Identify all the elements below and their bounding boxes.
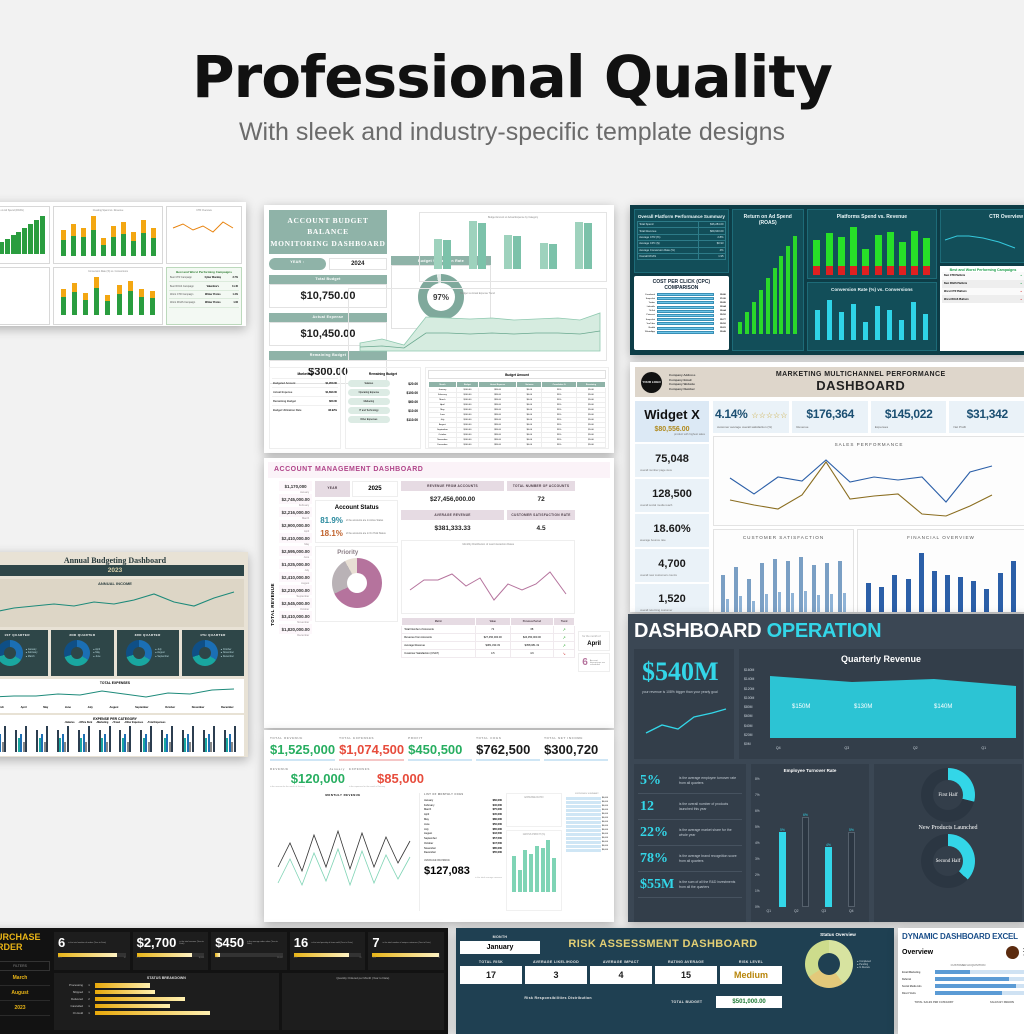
kpi-card: PROFIT $450,500 [408, 736, 472, 761]
marketing-multichannel-card[interactable]: YOUR LOGO Company AddressCompany EmailCo… [630, 362, 1024, 612]
am-title: ACCOUNT MANAGEMENT DASHBOARD [268, 462, 610, 478]
list-item: $1,170,000 January [279, 481, 312, 494]
bar-group [140, 726, 152, 752]
table-row: December $100.00$95.00 $5.0095% $5.00 [429, 443, 606, 448]
sales-line-svg [716, 450, 1000, 520]
area-chart-svg [352, 295, 604, 353]
list-item: Email Marketing [902, 970, 1024, 974]
bar [984, 589, 989, 612]
risk-assessment-card[interactable]: MONTH January RISK ASSESSMENT DASHBOARD … [456, 928, 894, 1034]
list-item: $0,000 [566, 841, 608, 844]
kpi-card: $31,342 Net Profit [949, 401, 1024, 433]
list-item: $0,000 [566, 801, 608, 804]
bar [826, 233, 833, 275]
hero-revenue-panel: $540M your revenue is 108% bigger than y… [634, 649, 734, 759]
table-row: Average Revenue $381,333.33 $358,081.19 … [402, 642, 575, 650]
product-highlight: Widget X $80,556.00 product with highest… [635, 401, 709, 442]
table-row: Worst ROAS Platform ● [942, 295, 1024, 303]
cpc-comparison-panel: COST PER CLICK (CPC) COMPARISON Facebook… [634, 276, 729, 350]
list-item: Facebook $0.80 [637, 293, 726, 296]
budget-trend-area-chart: Budget vs Actual Expense Trend [348, 288, 607, 361]
bar: 4% [825, 779, 832, 907]
list-item: Remaining Budget $60.00 [272, 396, 338, 405]
conversion-panel: Conversion Rate (%) vs. Conversions [807, 282, 937, 351]
status-donut [805, 940, 853, 988]
bar [932, 571, 937, 612]
month-card: for the month of April 6 Account Interac… [578, 481, 610, 727]
ctr-overview-panel: CTR Overview [940, 209, 1024, 263]
kpi-total-accounts: TOTAL NUMBER OF ACCOUNTS 72 [507, 481, 575, 508]
year-label: YEAR : [269, 258, 326, 270]
list-item: Shipped 1 [57, 990, 276, 995]
kpi-card: 128,500 overall social media reach [635, 479, 709, 512]
remaining-budget-panel: Remaining Budget Salaries $20.00 Operati… [345, 367, 421, 449]
list-item: Actual Expense $1,890.00 [272, 387, 338, 396]
quarterly-revenue-panel: Quarterly Revenue $160M$140M$120M$100M$8… [739, 649, 1023, 759]
list-item: Marketing $60.00 [348, 398, 418, 405]
bar [838, 237, 845, 275]
kpi-card: 75,048 overall number page view [635, 444, 709, 477]
hero-value: $540M [642, 657, 726, 687]
list-item: Reddit $0.81 [637, 327, 726, 330]
bar [875, 306, 880, 340]
account-budget-balance-card[interactable]: ACCOUNT BUDGET BALANCE MONITORING DASHBO… [264, 205, 614, 453]
budget-amount-table: Budget Amount MonthBudgetActual ExpenseV… [425, 367, 609, 449]
table-row: Overall ROAS 1.95 [638, 253, 726, 259]
month-label: MONTH [460, 935, 540, 939]
revenue-axis-label: TOTAL REVENUE [270, 583, 275, 626]
sales-performance-chart: SALES PERFORMANCE [713, 436, 1024, 526]
operation-stats-list: 5% is the average employee turnover rate… [634, 764, 746, 922]
kpi-card: $145,022 Expenses [871, 401, 947, 433]
ab-year: 2023 [0, 565, 244, 576]
kpi-card: 4.14%☆☆☆☆☆ customer average overall sati… [713, 401, 789, 433]
kpi-card: $2,700 is the total revenue (Year to Dat… [133, 932, 209, 970]
bar [850, 227, 857, 275]
table-row: Best CTR Campaign Cyber Monday 3.7% [169, 274, 239, 282]
expenses-summary-list: EXPENSES SUMMARY $0,000 $0,000 $0,000 $0… [566, 793, 608, 911]
bar-group [15, 726, 27, 752]
interaction-line-chart: Monthly Distribution of Last Interaction… [401, 540, 575, 614]
bb-title-2: MONITORING DASHBOARD [269, 238, 387, 249]
bar-group [0, 726, 6, 752]
acquisition-title: CUSTOMER ACQUISITION [902, 963, 1024, 967]
bar: 5% [848, 779, 855, 907]
bar [899, 320, 904, 340]
mm-title-1: MARKETING MULTICHANNEL PERFORMANCE [702, 371, 1019, 378]
stat-row: 12 is the overall number of products lau… [638, 794, 742, 820]
list-item: $2,210,000.00 September [279, 585, 312, 598]
bar [866, 583, 871, 612]
purchase-order-card[interactable]: PURCHASE ORDER FILTERS MarchAugust2023 6… [0, 928, 448, 1034]
bar [862, 249, 869, 275]
roas-mini-chart: Revenue vs Ad Spend (ROAS) [0, 206, 50, 264]
list-item: Direct Visits [902, 991, 1024, 995]
kpi-revenue-accounts: REVENUE FROM ACCOUNTS $27,456,000.00 [401, 481, 504, 508]
list-item: $0,000 [566, 837, 608, 840]
dd-bottom-right: SALES BY REGION [970, 1001, 1024, 1004]
list-item: WhatsApp $0.49 [637, 331, 726, 334]
list-item: $2,216,000.00 March [279, 507, 312, 520]
spend-revenue-panel: Platforms Spend vs. Revenue [807, 209, 937, 279]
list-item: $0,000 [566, 849, 608, 852]
page-header: Professional Quality With sleek and indu… [0, 0, 1024, 147]
svg-text:$130M: $130M [854, 704, 872, 710]
bar-group [161, 726, 173, 752]
page-subtitle: With sleek and industry-specific templat… [0, 118, 1024, 147]
list-item: Processing 1 [57, 983, 276, 988]
bar: 5% [779, 779, 786, 907]
mm-header: YOUR LOGO Company AddressCompany EmailCo… [635, 367, 1024, 397]
list-item: $0,000 [566, 821, 608, 824]
metric-card: AVERAGE LIKELIHOOD 3 [525, 960, 587, 992]
list-item: $1,820,000.00 December [279, 624, 312, 637]
quarterly-area-svg: $150M $130M $140M [768, 668, 1018, 746]
customer-satisfaction-chart: CUSTOMER SATISFACTION [713, 529, 854, 612]
kpi-csat: CUSTOMER SATISFACTION RATE 4.5 [507, 510, 575, 537]
customer-icon [1006, 946, 1019, 959]
priority-donut-panel: Priority [315, 546, 398, 622]
stat-row: 78% is the average brand recognition sco… [638, 846, 742, 872]
list-item: $2,545,000.00 October [279, 598, 312, 611]
list-item: $2,410,000.00 August [279, 572, 312, 585]
bar [815, 310, 820, 340]
company-logo-icon: YOUR LOGO [641, 372, 662, 393]
list-item: Referral [902, 977, 1024, 981]
list-item: YouTube $0.52 [637, 322, 726, 325]
list-item: Delivered 2 [57, 997, 276, 1002]
list-item: Budget Utilization Rate 96.92% [272, 405, 338, 414]
bar [945, 575, 950, 612]
account-management-card[interactable]: ACCOUNT MANAGEMENT DASHBOARD TOTAL REVEN… [264, 458, 614, 728]
list-item: $2,595,000.00 June [279, 546, 312, 559]
revenue-expense-card[interactable]: TOTAL REVENUE $1,525,000 TOTAL EXPENSES … [264, 730, 614, 922]
kpi-card: 16 is the total quantity of items sold (… [290, 932, 366, 970]
am-year-label: YEAR [315, 481, 349, 497]
bar-group [57, 726, 69, 752]
bar [899, 242, 906, 275]
kpi-card: 18.60% average bounce rate [635, 514, 709, 547]
list-item: TikTok $0.44 [637, 310, 726, 313]
status-breakdown-panel: STATUS BREAKDOWN Processing 1 Shipped 1 … [54, 973, 279, 1030]
list-item: Twitter $0.85 [637, 301, 726, 304]
ab-title: Annual Budgeting Dashboard [0, 556, 244, 565]
table-row: Revenue from Accounts $27,456,000.00 $24… [402, 634, 575, 642]
bar [863, 322, 868, 340]
stat-row: 5% is the average employee turnover rate… [638, 768, 742, 794]
table-row: Worst ROAS Campaign Winter Promo 1.66 [169, 299, 239, 307]
bar [923, 238, 930, 275]
kpi-card: 1,520 overall returning customer [635, 584, 709, 612]
po-filter-label[interactable]: FILTERS [0, 961, 50, 971]
overview-label: Overview [902, 949, 933, 956]
employee-turnover-panel: Employee Turnover Rate 8%7%6%5%4%3%2%1%0… [751, 764, 869, 922]
filter-option[interactable]: August [0, 986, 50, 1001]
quarter-panel: 4TH QUARTER ● October● November● Decembe… [182, 630, 244, 676]
risk-responsibilities-panel: Risk Responsibilities Distribution [460, 996, 656, 1030]
kpi-card: 6 is the total number of orders (Year to… [54, 932, 130, 970]
roas-dark-card[interactable]: Overall Platform Performance Summary Tot… [630, 205, 1024, 355]
list-item: On Hold 1 [57, 1011, 276, 1016]
kpi-card: TOTAL COGS $762,500 [476, 736, 540, 761]
metric-card: RISK LEVEL Medium [720, 960, 782, 992]
list-item: Social Media Ads [902, 984, 1024, 988]
kpi-card: 7 is the total number of unique customer… [368, 932, 444, 970]
risk-title: RISK ASSESSMENT DASHBOARD [544, 938, 782, 950]
bar [911, 231, 918, 275]
bar-group [99, 726, 111, 752]
list-item: $0,000 [566, 813, 608, 816]
kpi-card: TOTAL NET INCOME $300,720 [544, 736, 608, 761]
dashboard-operation-card[interactable]: DASHBOARD OPERATION $540M your revenue i… [628, 614, 1024, 922]
kpi-card: TOTAL EXPENSES $1,074,500 [339, 736, 404, 761]
list-item: $0,000 [566, 845, 608, 848]
first-half-donut: First Half [921, 768, 975, 822]
kpi-card: TOTAL REVENUE $1,525,000 [270, 736, 335, 761]
list-item: Snapchat $1.26 [637, 297, 726, 300]
list-item: $2,900,000.00 April [279, 520, 312, 533]
financial-overview-chart: FINANCIAL OVERVIEW [857, 529, 1024, 612]
interaction-svg [404, 546, 572, 604]
annual-budgeting-card[interactable]: Annual Budgeting Dashboard 2023 ANNUAL I… [0, 552, 248, 757]
budget-value: $501,000.00 [716, 996, 782, 1008]
list-item: $2,745,000.00 February [279, 494, 312, 507]
po-title: PURCHASE ORDER [0, 932, 50, 953]
list-item: $0,000 [566, 817, 608, 820]
dd-title: DYNAMIC DASHBOARD EXCEL [902, 932, 1024, 941]
bar: 6% [802, 779, 809, 907]
list-item: Other Expenses $110.00 [348, 416, 418, 423]
budget-category-bar-chart: Budget Amount vs Actual Expense by Categ… [419, 212, 607, 282]
bar [919, 553, 924, 612]
bar [971, 581, 976, 612]
marketing-budget-panel: Marketing Budgeted Amount $1,950.00Actua… [269, 367, 341, 449]
list-item: $0,000 [566, 809, 608, 812]
list-item: $0,000 [566, 833, 608, 836]
table-row: Best CTR Platform ● [942, 272, 1024, 280]
bar-group [78, 726, 90, 752]
quarter-panel: 2ND QUARTER ● April● May● June [51, 630, 113, 676]
bar [887, 310, 892, 340]
list-item: $0,000 [566, 829, 608, 832]
annual-income-chart: ANNUAL INCOME [0, 579, 244, 627]
list-item: $0,000 [566, 805, 608, 808]
bar [813, 240, 820, 275]
list-item: IT and Technology $10.00 [348, 407, 418, 414]
account-status-panel: Account Status 81.9% of the accounts are… [315, 500, 398, 543]
second-half-donut: Second Half [921, 834, 975, 888]
list-item: Operating Expense $100.00 [348, 389, 418, 396]
svg-text:$150M: $150M [792, 704, 810, 710]
table-row: Best ROAS Platform ● [942, 280, 1024, 288]
marketing-performance-light-card[interactable]: Revenue vs Ad Spend (ROAS) Creating Spen… [0, 202, 246, 326]
table-row: Total Number of Accounts 72 68 ↗ [402, 626, 575, 634]
month-value[interactable]: January [460, 941, 540, 954]
table-row: Best ROAS Campaign Valentine's 11.40 [169, 282, 239, 290]
bar [887, 232, 894, 275]
bar [892, 575, 897, 612]
bar [875, 235, 882, 275]
bar [879, 587, 884, 612]
list-item: Salaries $20.00 [348, 380, 418, 387]
quarter-panel: 1ST QUARTER ● January● February● March [0, 630, 48, 676]
bar [851, 304, 856, 340]
list-item: Budgeted Amount $1,950.00 [272, 378, 338, 387]
metric-card: TOTAL RISK 17 [460, 960, 522, 992]
bar [911, 302, 916, 340]
kpi-card: $176,364 Revenue [792, 401, 868, 433]
quarter-panel: 3RD QUARTER ● July● August● September [117, 630, 179, 676]
table-row: Customer Satisfaction (CSAT) 4.5 4.6 ↘ [402, 650, 575, 658]
bar-group [119, 726, 131, 752]
list-item: $3,410,000.00 November [279, 611, 312, 624]
kpi-card: $450 is the average order value (Year to… [211, 932, 287, 970]
monthly-revenue-chart: MONTHLY REVENUE [270, 793, 420, 911]
monthly-cogs-list: LIST OF MONTHLY COGS January$60,000 Febr… [424, 793, 502, 911]
gross-profit-chart: GROSS PROFIT (%) [506, 830, 562, 911]
best-worst-campaigns-table: Best and Worst Performing Campaigns Best… [166, 267, 242, 325]
budget-label: TOTAL BUDGET [659, 996, 714, 1004]
filter-option[interactable]: 2023 [0, 1001, 50, 1016]
priority-donut [332, 558, 382, 608]
bb-title-1: ACCOUNT BUDGET BALANCE [269, 215, 387, 238]
kpi-card: 4,700 overall new customers counts [635, 549, 709, 582]
kpi-average-revenue: AVERAGE REVENUE $381,333.33 [401, 510, 504, 537]
bar-group [182, 726, 194, 752]
utilization-value: 97% [433, 293, 449, 302]
metric-card: AVERAGE IMPACT 4 [590, 960, 652, 992]
list-item: $1,025,000.00 July [279, 559, 312, 572]
dynamic-dashboard-card[interactable]: DYNAMIC DASHBOARD EXCEL Overview 10 Numb… [898, 928, 1024, 1034]
table-row: Worst CTR Campaign Winter Promo 1.4% [169, 291, 239, 299]
kpi-card: REVENUE January $120,000 is the revenue … [270, 767, 345, 789]
list-item: Pinterest $0.52 [637, 314, 726, 317]
new-products-donuts: First Half New Products Launched Second … [874, 764, 1022, 922]
spend-revenue-mini-chart: Creating Spend vs. Revenue [53, 206, 163, 264]
status-overview-panel: Status Overview ● Completed● Pending● In… [786, 932, 890, 1030]
mm-title-2: DASHBOARD [702, 378, 1019, 393]
table-row: Worst CTR Platform ● [942, 288, 1024, 296]
hero-caption: your revenue is 108% bigger than your ye… [642, 690, 726, 695]
total-expenses-chart: TOTAL EXPENSES MarchAprilMayJuneJulyAugu… [0, 679, 244, 713]
dd-bottom-left: TOTAL SALES PER CATEGORY [902, 1001, 966, 1004]
metric-card: RATING AVERAGE 15 [655, 960, 717, 992]
bar [1011, 561, 1016, 612]
list-item: LinkedIn $2.44 [637, 306, 726, 309]
bar [827, 300, 832, 340]
list-item: $2,410,000.00 May [279, 533, 312, 546]
bar [958, 577, 963, 612]
quantity-per-month-panel: Quantity Ordered per Month (Year to Date… [282, 973, 444, 1030]
filter-option[interactable]: March [0, 971, 50, 986]
year-value[interactable]: 2024 [329, 258, 388, 270]
am-year-value[interactable]: 2025 [352, 481, 399, 497]
bar [923, 314, 928, 340]
metrics-table: MetricValuePrevious PeriodTrend Total Nu… [401, 617, 575, 658]
ctr-mini-chart: CTR Overview [166, 206, 242, 264]
stat-row: 22% is the average market share for the … [638, 820, 742, 846]
bar-group [36, 726, 48, 752]
bar-group [203, 726, 215, 752]
best-worst-platform-table: Best and Worst Performing Campaigns Best… [940, 266, 1024, 351]
list-item: Snapchat $0.77 [637, 318, 726, 321]
bar [906, 579, 911, 612]
stat-row: $55M is the sum of all the R&D investmen… [638, 872, 742, 898]
list-item: $0,000 [566, 825, 608, 828]
ctr-sparkline [169, 212, 241, 256]
bar [839, 312, 844, 340]
kpi-card: EXPENSES $85,000 is the expenses for the… [349, 767, 424, 789]
list-item: Cancelled 1 [57, 1004, 276, 1009]
list-item: $0,000 [566, 797, 608, 800]
platform-summary-table: Overall Platform Performance Summary Tot… [634, 209, 729, 273]
bar-group [224, 726, 236, 752]
expense-ratio-chart: EXPENSE RATIO [506, 793, 562, 827]
do-title: DASHBOARD OPERATION [634, 620, 1022, 643]
conversion-mini-chart: Conversion Rate (%) vs. Conversions [53, 267, 163, 325]
page-title: Professional Quality [0, 48, 1024, 106]
svg-text:$140M: $140M [934, 704, 952, 710]
bar [998, 573, 1003, 612]
roas-chart-panel: Return on Ad Spend (ROAS) [732, 209, 804, 351]
expense-per-category-chart: EXPENSE PER CATEGORY ▪Salaries▪Office Re… [0, 715, 244, 756]
monthly-revenue-svg [270, 797, 415, 901]
list-item: December$55,000 [424, 851, 502, 856]
